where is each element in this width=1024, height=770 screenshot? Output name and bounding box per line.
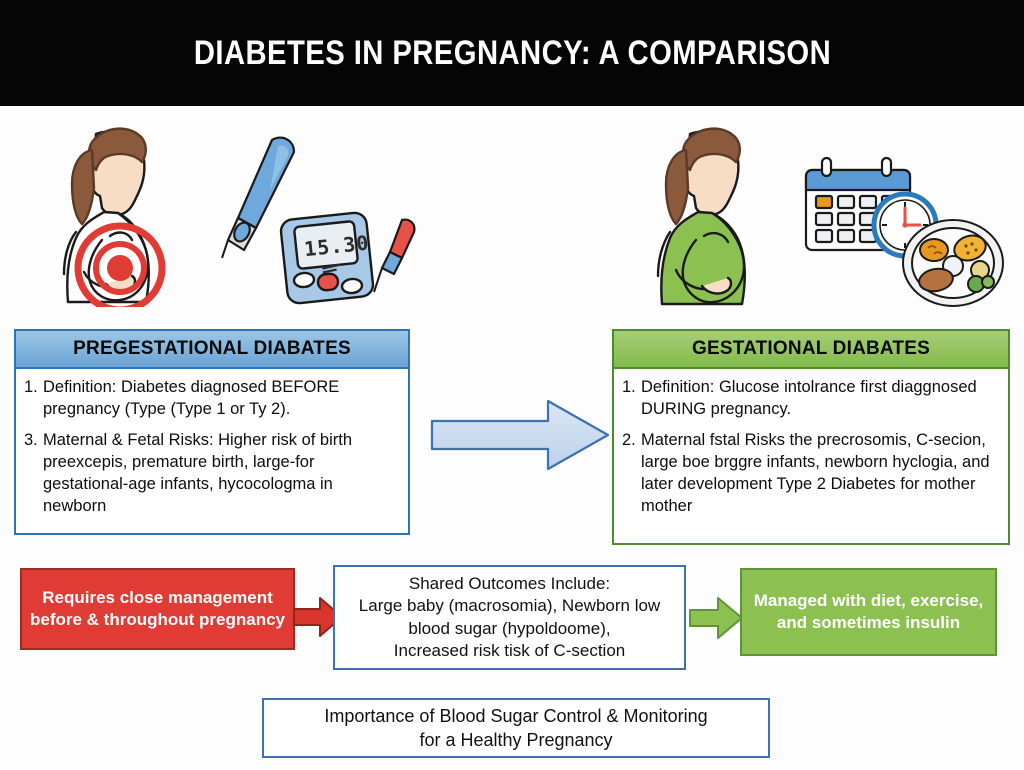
shared-outcomes-line-3: Increased risk tisk of C-section xyxy=(359,640,660,662)
gestational-panel-body: 1. Definition: Glucose intolrance first … xyxy=(614,369,1008,533)
shared-outcomes-line-1: Large baby (macrosomia), Newborn low xyxy=(359,595,660,617)
page-title: Diabetes in Pregnancy: A Comparison xyxy=(193,34,830,73)
shared-outcomes-box: Shared Outcomes Include: Large baby (mac… xyxy=(333,565,686,670)
list-item-text: Maternal fstal Risks the precrosomis, C-… xyxy=(641,430,998,518)
comparison-arrow-icon xyxy=(430,395,610,475)
pregnant-woman-green-dress-icon xyxy=(618,112,788,307)
pregestational-panel-heading: PREGESTATIONAL DIABATES xyxy=(16,331,408,369)
list-item-number: 2. xyxy=(622,430,641,518)
pregnant-woman-white-top-icon xyxy=(24,112,194,307)
summary-line-2: for a Healthy Pregnancy xyxy=(324,728,707,752)
infographic-page: Diabetes in Pregnancy: A Comparison xyxy=(0,0,1024,770)
red-management-box: Requires close management before & throu… xyxy=(20,568,295,650)
pregestational-panel-body: 1. Definition: Diabetes diagnosed BEFORE… xyxy=(16,369,408,533)
list-item: 2. Maternal fstal Risks the precrosomis,… xyxy=(622,430,998,518)
healthy-meal-plate-icon xyxy=(900,218,1006,308)
summary-line-1: Importance of Blood Sugar Control & Moni… xyxy=(324,704,707,728)
title-banner: Diabetes in Pregnancy: A Comparison xyxy=(0,0,1024,106)
shared-outcomes-line-2: blood sugar (hypoldoome), xyxy=(359,618,660,640)
list-item-number: 1. xyxy=(24,377,43,421)
test-strip-icon xyxy=(368,218,420,296)
pregestational-diabetes-panel: PREGESTATIONAL DIABATES 1. Definition: D… xyxy=(14,329,410,535)
list-item-text: Definition: Glucose intolrance first dia… xyxy=(641,377,998,421)
green-flow-arrow-icon xyxy=(688,595,744,641)
green-management-box: Managed with diet, exercise, and sometim… xyxy=(740,568,997,656)
shared-outcomes-title: Shared Outcomes Include: xyxy=(359,573,660,595)
list-item-text: Maternal & Fetal Risks: Higher risk of b… xyxy=(43,430,398,518)
list-item: 1. Definition: Diabetes diagnosed BEFORE… xyxy=(24,377,398,421)
gestational-diabetes-panel: GESTATIONAL DIABATES 1. Definition: Gluc… xyxy=(612,329,1010,545)
importance-summary-box: Importance of Blood Sugar Control & Moni… xyxy=(262,698,770,758)
list-item-text: Definition: Diabetes diagnosed BEFORE pr… xyxy=(43,377,398,421)
gestational-panel-heading: GESTATIONAL DIABATES xyxy=(614,331,1008,369)
list-item: 3. Maternal & Fetal Risks: Higher risk o… xyxy=(24,430,398,518)
list-item: 1. Definition: Glucose intolrance first … xyxy=(622,377,998,421)
list-item-number: 3. xyxy=(24,430,43,518)
list-item-number: 1. xyxy=(622,377,641,421)
